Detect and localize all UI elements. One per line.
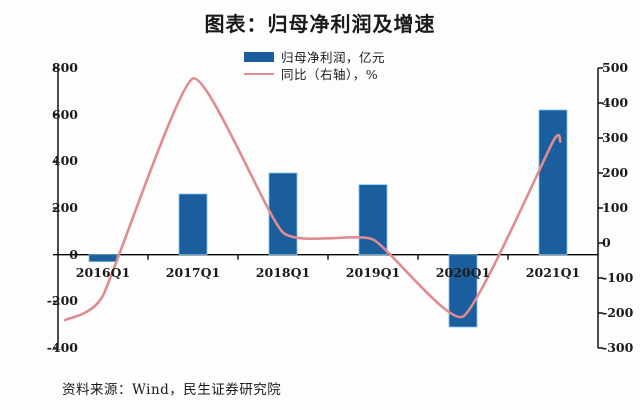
y-axis-left-label: 0 [69,247,78,262]
y-axis-right-label: 200 [602,165,628,180]
bar-2017Q1 [179,194,207,255]
plot-area [0,0,640,410]
x-axis-label-2017Q1: 2017Q1 [153,265,233,280]
y-axis-left-label: 200 [52,200,78,215]
bar-2019Q1 [359,185,387,255]
x-axis-label-2020Q1: 2020Q1 [423,265,503,280]
x-axis-label-2019Q1: 2019Q1 [333,265,413,280]
line-series-yoy [65,78,560,320]
x-axis-label-2016Q1: 2016Q1 [63,265,143,280]
y-axis-right-label: 500 [602,60,628,75]
y-axis-left-label: -200 [47,293,78,308]
y-axis-right-label: 300 [602,130,628,145]
y-axis-left-label: 400 [52,153,78,168]
y-axis-left-label: 800 [52,60,78,75]
bar-2016Q1 [89,255,117,262]
y-axis-left-label: 600 [52,107,78,122]
y-axis-right-label: -200 [602,305,633,320]
y-axis-left-label: -400 [47,340,78,355]
x-axis-label-2018Q1: 2018Q1 [243,265,323,280]
chart-container: 图表：归母净利润及增速 归母净利润，亿元 同比（右轴），% 8006004002… [0,0,640,410]
chart-source: 资料来源：Wind，民生证券研究院 [62,378,281,398]
y-axis-right-label: 0 [602,235,611,250]
y-axis-right-label: 400 [602,95,628,110]
bar-2018Q1 [269,173,297,255]
y-axis-right-label: 100 [602,200,628,215]
bar-2021Q1 [539,110,567,255]
y-axis-right-label: -100 [602,270,633,285]
y-axis-right-label: -300 [602,340,633,355]
x-axis-label-2021Q1: 2021Q1 [513,265,593,280]
